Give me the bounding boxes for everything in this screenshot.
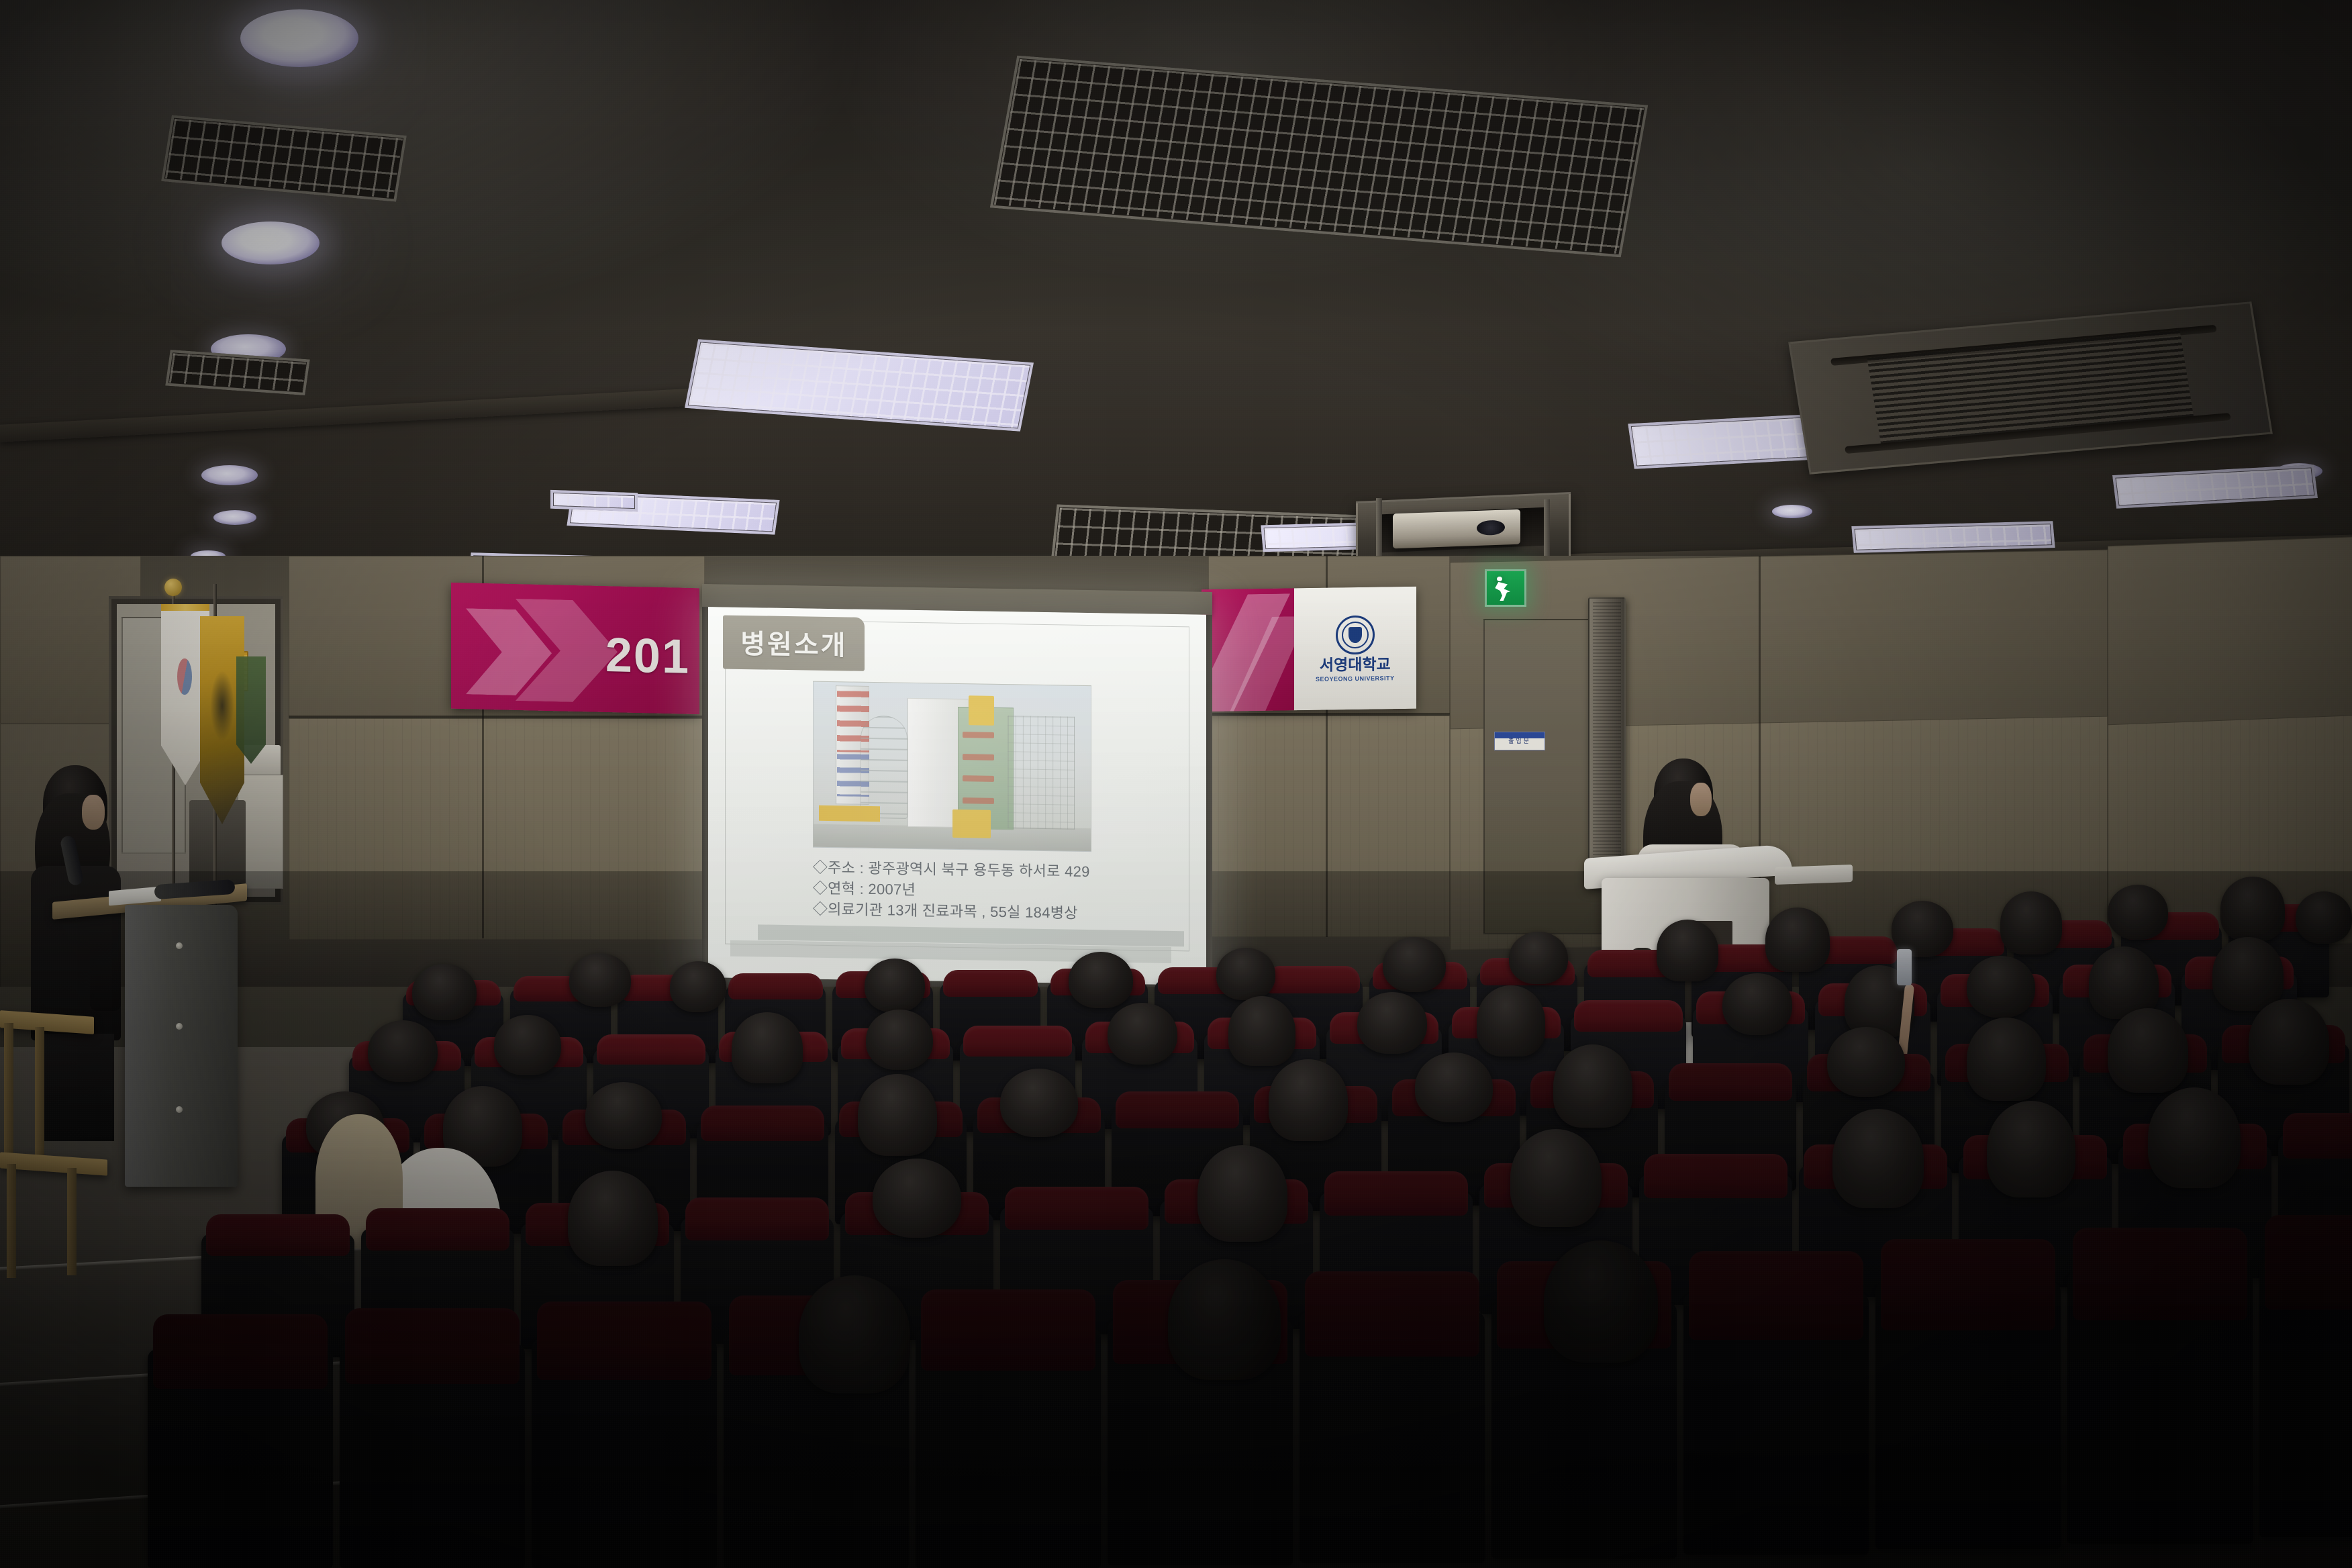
fluorescent-troffer-lit-icon — [1851, 521, 2055, 553]
wall-speaker-icon — [1588, 597, 1626, 886]
audience-head — [1477, 985, 1545, 1057]
screen-edge — [702, 607, 708, 977]
university-name-ko: 서영대학교 — [1320, 656, 1391, 673]
downlight-icon — [213, 510, 256, 525]
hospital-building-photo — [813, 681, 1092, 852]
audience-head — [2249, 999, 2329, 1085]
audience-head — [1216, 948, 1275, 1000]
flag-finial-icon — [164, 579, 182, 596]
audience-head — [873, 1159, 961, 1238]
downlight-icon — [1772, 505, 1812, 518]
downlight-icon — [222, 222, 320, 264]
university-emblem-icon — [1336, 615, 1375, 654]
screen-surface: 병원소개 — [708, 607, 1206, 985]
table-leg — [7, 1164, 16, 1278]
audience-head — [1657, 920, 1718, 981]
seat[interactable] — [532, 1338, 717, 1568]
audience-head — [568, 1171, 658, 1266]
presenter-face — [82, 795, 105, 830]
fluorescent-troffer-lit-icon — [550, 490, 638, 512]
audience-head — [670, 961, 726, 1012]
audience-head — [799, 1275, 910, 1393]
audience-head — [1357, 992, 1427, 1054]
audience-head — [1987, 1101, 2075, 1197]
audience-head — [1168, 1259, 1281, 1380]
room-number-text: 201 — [605, 628, 690, 685]
projector-icon — [1393, 509, 1520, 549]
audience-head — [1108, 1003, 1177, 1065]
projector-mount-arm — [1544, 499, 1550, 564]
smartphone-icon — [1897, 949, 1912, 985]
audience-head — [1383, 937, 1446, 992]
audience-head — [1228, 996, 1295, 1066]
lectern-side-shelf — [1775, 865, 1853, 885]
slide-title: 병원소개 — [723, 616, 865, 671]
podium-body — [125, 905, 238, 1187]
audience-head — [2000, 891, 2062, 954]
audience-head — [2148, 1087, 2241, 1188]
seat[interactable] — [1300, 1312, 1485, 1563]
seat[interactable] — [2067, 1271, 2253, 1544]
audience-head — [1765, 908, 1830, 972]
door-plate: 출입문 — [1494, 732, 1545, 750]
audience-head — [2108, 1008, 2188, 1093]
audience-head — [412, 964, 477, 1020]
building-awning — [819, 805, 880, 822]
table-leg — [35, 1027, 44, 1161]
slide-body-text: ◇주소 : 광주광역시 북구 용두동 하서로 429 ◇연혁 : 2007년 ◇… — [813, 856, 1177, 925]
audience-head — [494, 1015, 561, 1075]
building-entrance-sign — [952, 810, 991, 838]
presentation-slide: 병원소개 — [708, 607, 1206, 985]
seat[interactable] — [148, 1349, 333, 1568]
banner-right-university: 서영대학교 SEOYEONG UNIVERSITY — [1202, 587, 1416, 712]
audience-head — [2212, 937, 2284, 1011]
projector-mount-arm — [1376, 498, 1382, 562]
table-leg — [4, 1023, 13, 1164]
seat[interactable] — [340, 1344, 525, 1568]
audience-head — [866, 1010, 933, 1070]
building-round-section — [861, 716, 908, 819]
audience-head — [1510, 1129, 1602, 1227]
audience-head — [1967, 956, 2035, 1018]
audience-head — [1827, 1027, 1905, 1097]
audience-head — [1544, 1240, 1658, 1363]
downlight-icon — [240, 9, 358, 67]
audience-head — [1415, 1052, 1493, 1122]
audience-head — [732, 1012, 803, 1083]
auxiliary-flag-icon — [236, 656, 266, 764]
podium-left — [52, 893, 247, 1195]
running-person-icon — [1492, 575, 1518, 601]
audience-head — [1069, 952, 1133, 1008]
wall-panel — [2108, 536, 2352, 728]
seat[interactable] — [2259, 1259, 2352, 1537]
audience-head — [569, 953, 631, 1007]
projection-screen: 병원소개 — [702, 584, 1212, 985]
banner-left-room-number: 201 — [451, 583, 699, 714]
audience-head — [585, 1082, 662, 1149]
audience-head — [1509, 932, 1568, 984]
ceiling — [0, 0, 2352, 591]
audience-head — [1000, 1069, 1078, 1137]
presenter-face — [1690, 783, 1712, 816]
audience-head — [2108, 885, 2168, 940]
audience-head — [1553, 1044, 1632, 1128]
downlight-icon — [201, 465, 258, 485]
audience-head — [1197, 1145, 1287, 1242]
audience-head — [1269, 1059, 1348, 1141]
screen-edge — [1206, 615, 1212, 985]
university-name-en: SEOYEONG UNIVERSITY — [1316, 675, 1395, 683]
audience-head — [368, 1020, 438, 1082]
audience-head — [1967, 1018, 2046, 1101]
auditorium-photo: 출입문 201 서영대학교 SEOYEONG UNIVERSITY — [0, 0, 2352, 1568]
audience-head — [2220, 877, 2285, 941]
audience-head — [2296, 891, 2352, 944]
building-right-section — [1008, 716, 1074, 830]
building-yellow-sign — [969, 695, 993, 726]
audience-head — [1722, 973, 1792, 1035]
table-leg — [67, 1168, 77, 1275]
door-plate-text: 출입문 — [1495, 738, 1545, 745]
emergency-exit-sign-icon — [1485, 569, 1526, 607]
audience-head — [858, 1074, 937, 1156]
seat[interactable] — [1683, 1293, 1869, 1555]
audience-head — [1832, 1109, 1924, 1208]
seat[interactable] — [916, 1328, 1101, 1568]
audience-head — [865, 959, 925, 1012]
seat[interactable] — [1875, 1282, 2061, 1549]
